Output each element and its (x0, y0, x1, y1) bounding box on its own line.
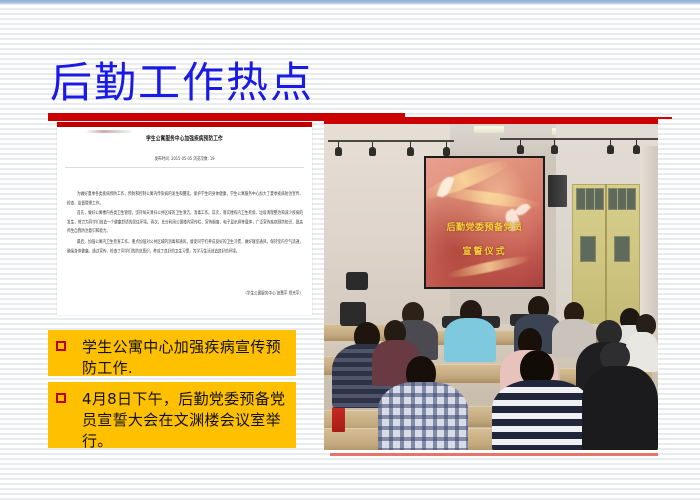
bullet-text-1: 学生公寓中心加强疾病宣传预防工作. (82, 337, 290, 379)
chair-back (346, 272, 368, 290)
track-lamp-icon (407, 147, 414, 156)
document-paragraph: 最后，加强公寓内卫生检查工作，重点加强对公共区域的消毒和通风，督促同学们养成良好… (67, 238, 303, 256)
door-window-lower-right (614, 236, 630, 262)
track-lamp-icon (633, 145, 640, 154)
document-screenshot-panel: 学生公寓服务中心加强疾病预防工作 发布时间: 2015-05-05 浏览次数: … (57, 122, 312, 315)
track-lamp-icon (551, 145, 558, 154)
presentation-slide: 后勤工作热点 学生公寓服务中心加强疾病预防工作 发布时间: 2015-05-05… (0, 0, 700, 500)
door-grid-bar (585, 188, 586, 210)
document-divider (65, 167, 304, 168)
wall-speaker (548, 175, 567, 207)
fire-extinguisher (332, 406, 345, 432)
photo-underline (330, 453, 658, 456)
projected-text-line-1: 后勤党委预备党员 (426, 220, 543, 233)
track-lamp-icon (517, 145, 524, 154)
door-center-seam (605, 184, 607, 339)
projected-text-line-2: 宣誓仪式 (426, 244, 543, 257)
document-paragraph: 首先，做好公寓楼内各类卫生管理，坚持每天清扫公共区域的卫生清洁，消毒工作。其次，… (67, 209, 303, 236)
track-lamp-icon (335, 147, 342, 156)
document-paragraph: 为做好夏季各类疾病预防工作，预防和控制公寓内传染病的发生和蔓延，保护学生的身体健… (67, 190, 303, 208)
door-window-lower-left (580, 236, 596, 262)
light-track (500, 138, 658, 140)
light-track (328, 140, 454, 142)
track-lamp-icon (369, 147, 376, 156)
track-lamp-icon (443, 147, 450, 156)
square-bullet-icon (56, 393, 66, 403)
document-signature: （学生公寓服务中心 张慧平 郑光平） (67, 291, 303, 297)
projection-screen: 后勤党委预备党员 宣誓仪式 (426, 158, 543, 287)
bullet-callout-1: 学生公寓中心加强疾病宣传预防工作. (48, 330, 296, 376)
document-logo-smudge (85, 130, 131, 133)
track-lamp-icon (607, 145, 614, 154)
document-header-bar (57, 122, 312, 127)
slide-top-accent-band (0, 0, 700, 4)
page-title: 后勤工作热点 (50, 58, 650, 108)
ceiling-light-icon (474, 126, 504, 133)
door-grid-bar (617, 188, 618, 210)
document-meta: 发布时间: 2015-05-05 浏览次数: 19 (57, 155, 312, 163)
slide-ribbon-graphic (446, 253, 532, 281)
meeting-photo: 后勤党委预备党员 宣誓仪式 (324, 124, 658, 450)
bullet-callout-2: 4月8日下午，后勤党委预备党员宣誓大会在文渊楼会议室举行。 (48, 382, 296, 448)
door-window-upper-left (576, 188, 604, 210)
door-grid-bar (594, 188, 595, 210)
bullet-text-2: 4月8日下午，后勤党委预备党员宣誓大会在文渊楼会议室举行。 (82, 389, 290, 452)
door-grid-bar (626, 188, 627, 210)
document-headline: 学生公寓服务中心加强疾病预防工作 (57, 135, 312, 144)
document-body: 为做好夏季各类疾病预防工作，预防和控制公寓内传染病的发生和蔓延，保护学生的身体健… (67, 190, 303, 257)
square-bullet-icon (56, 341, 66, 351)
door-window-upper-right (608, 188, 636, 210)
